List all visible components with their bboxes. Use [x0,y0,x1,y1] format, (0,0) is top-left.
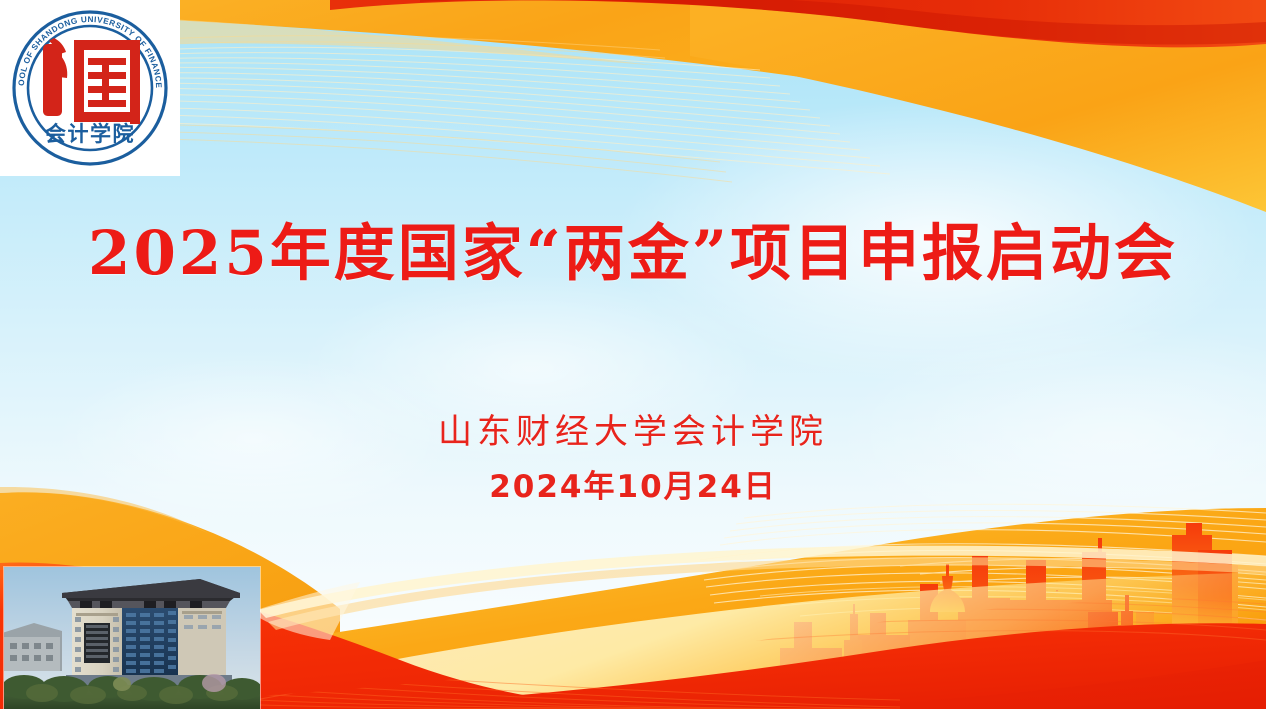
logo-plate: ACCOUNTING SCHOOL OF SHANDONG UNIVERSITY… [0,0,180,176]
event-date: 2024年10月24日 [0,461,1266,506]
logo-bottom-text: 会计学院 [45,121,135,146]
photo-side-building [4,623,62,671]
presentation-slide: ACCOUNTING SCHOOL OF SHANDONG UNIVERSITY… [0,0,1266,709]
campus-building-photo [4,567,260,709]
school-logo: ACCOUNTING SCHOOL OF SHANDONG UNIVERSITY… [4,4,176,172]
top-ribbon-group [118,0,1266,212]
organization-name: 山东财经大学会计学院 [0,404,1266,453]
page-title: 2025年度国家“两金”项目申报启动会 [0,222,1266,286]
photo-main-building [62,579,240,685]
